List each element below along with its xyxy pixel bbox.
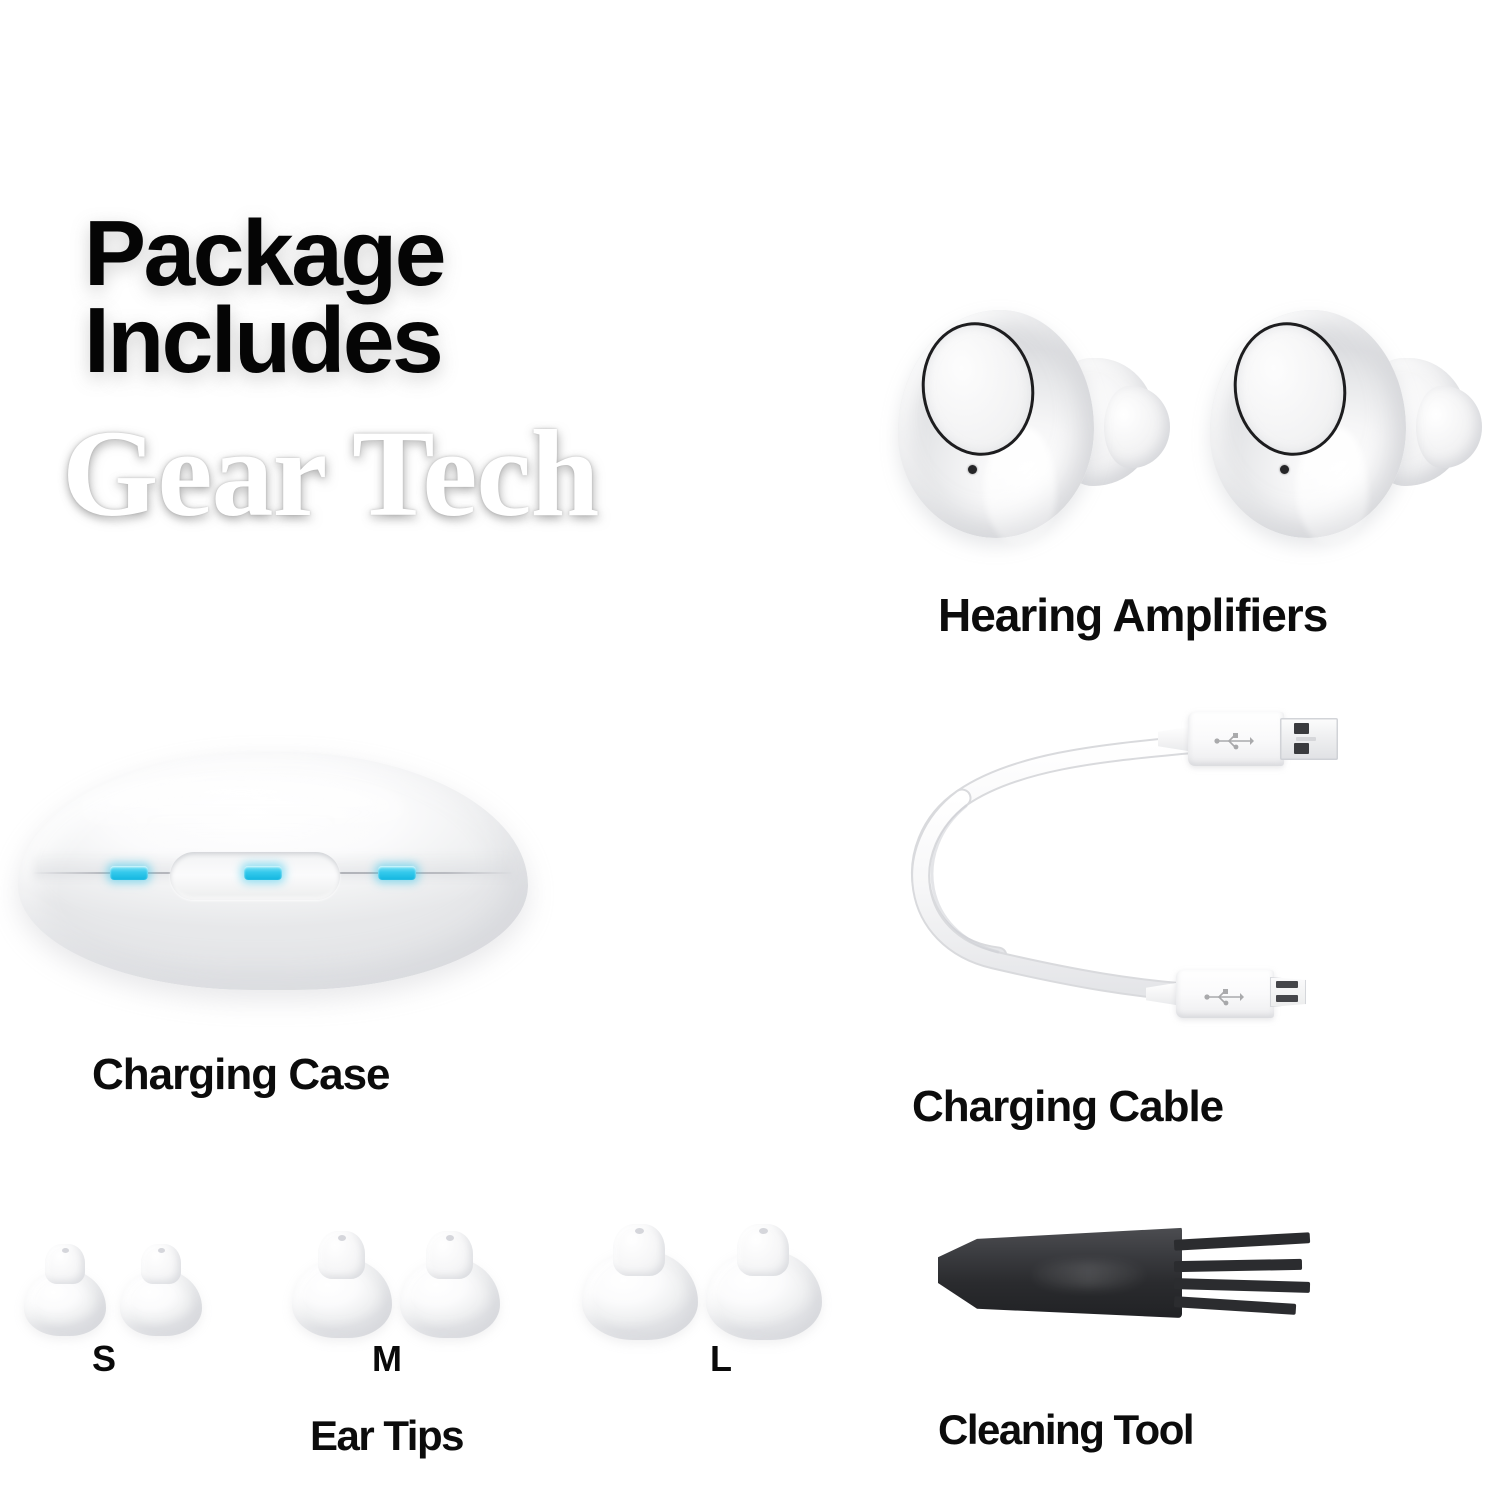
charging-case-body [18, 752, 528, 990]
label-hearing-amplifiers: Hearing Amplifiers [938, 588, 1327, 642]
ear-tip-medium-a [290, 1228, 400, 1338]
ear-tip-large-a [580, 1222, 706, 1340]
earbud-right-icon [1210, 300, 1490, 550]
earbud-left-icon [898, 300, 1178, 550]
charging-case-highlight [76, 778, 406, 840]
ear-tip-size-label-m: M [372, 1338, 402, 1380]
cleaning-tool-bristle [1174, 1278, 1310, 1293]
label-cleaning-tool: Cleaning Tool [938, 1406, 1193, 1454]
charging-case-icon [18, 752, 538, 1002]
cleaning-tool-highlight [1034, 1262, 1144, 1288]
micro-usb-contact-shell [1270, 977, 1306, 1007]
usb-a-housing [1188, 712, 1284, 766]
ear-tip-medium-b [398, 1228, 508, 1338]
charging-case-led-indicator-2 [244, 866, 282, 880]
ear-tip-bore [158, 1248, 165, 1253]
usb-trident-icon [1202, 988, 1248, 1006]
page-title-line-2: Includes [84, 297, 724, 383]
ear-tip-bore [338, 1235, 346, 1241]
ear-tip-bore [446, 1235, 454, 1241]
ear-tip-bore [62, 1248, 69, 1253]
usb-trident-icon [1212, 732, 1258, 750]
brand-watermark: Gear Tech [62, 412, 598, 536]
earbud-attached-tip [1416, 386, 1482, 468]
label-charging-cable: Charging Cable [912, 1082, 1223, 1132]
infographic-canvas: Package Includes Gear Tech Hearing Ampli… [0, 0, 1500, 1500]
charging-case-led-indicator-3 [378, 866, 416, 880]
charging-cable-icon [866, 694, 1366, 1054]
ear-tip-small-a [22, 1240, 114, 1336]
cleaning-tool-bristle [1174, 1232, 1310, 1251]
ear-tip-large-b [704, 1222, 830, 1340]
ear-tip-bore [759, 1228, 768, 1234]
label-charging-case: Charging Case [92, 1050, 390, 1100]
ear-tip-size-label-l: L [710, 1338, 732, 1380]
usb-a-contact-shell [1280, 718, 1338, 760]
ear-tip-size-label-s: S [92, 1338, 116, 1380]
cleaning-tool-bristle [1174, 1259, 1302, 1272]
micro-usb-housing [1176, 970, 1274, 1018]
cleaning-tool-handle [938, 1226, 1182, 1318]
earbud-microphone-hole [968, 465, 977, 474]
usb-a-contact-slot [1296, 737, 1316, 741]
cleaning-tool-bristle [1174, 1296, 1296, 1315]
usb-a-connector [1188, 708, 1340, 770]
charging-case-led-indicator-1 [110, 866, 148, 880]
label-ear-tips: Ear Tips [310, 1412, 463, 1460]
earbud-microphone-hole [1280, 465, 1289, 474]
cleaning-brush-icon [938, 1212, 1358, 1342]
ear-tip-small-b [118, 1240, 210, 1336]
page-title: Package Includes [84, 210, 724, 383]
micro-usb-connector [1176, 966, 1328, 1022]
ear-tip-bore [635, 1228, 644, 1234]
earbud-attached-tip [1104, 386, 1170, 468]
